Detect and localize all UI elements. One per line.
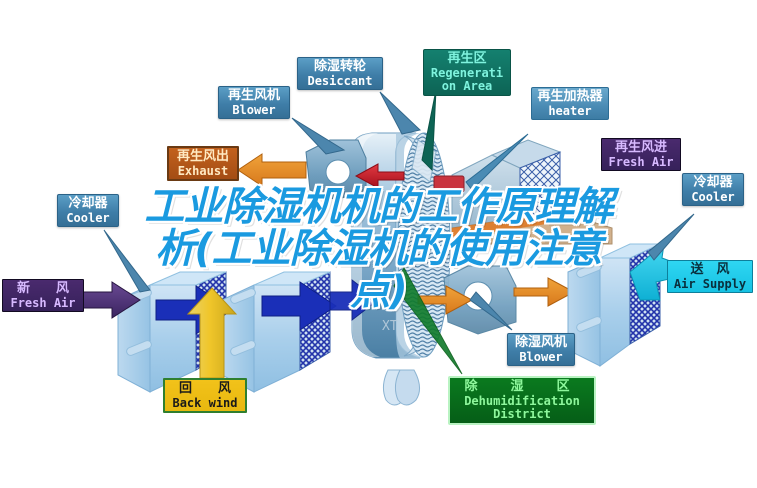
- label-regeneration-area[interactable]: 再生区 Regenerati on Area: [423, 49, 511, 96]
- label-air-supply-cn: 送 风: [672, 263, 748, 277]
- label-regeneration-air-in-cn: 再生风进: [606, 141, 676, 155]
- label-regeneration-area-cn: 再生区: [428, 52, 506, 66]
- label-regeneration-blower-cn: 再生风机: [223, 89, 285, 103]
- label-cooler-left-en: Cooler: [62, 212, 114, 225]
- label-regeneration-heater-en: heater: [536, 105, 604, 118]
- label-fresh-air-in-en: Fresh Air: [7, 297, 79, 310]
- label-dehumidification-blower-en: Blower: [512, 351, 570, 364]
- diagram-canvas: XT: [0, 0, 757, 488]
- label-cooler-left-cn: 冷却器: [62, 197, 114, 211]
- label-dehumidification-district-cn: 除 湿 区: [454, 380, 590, 394]
- label-regeneration-heater[interactable]: 再生加热器 heater: [531, 87, 609, 120]
- label-regeneration-area-en1: Regenerati: [428, 67, 506, 80]
- label-back-wind-cn: 回 风: [169, 382, 241, 396]
- label-fresh-air-in-cn: 新 风: [7, 282, 79, 296]
- label-fresh-air-in[interactable]: 新 风 Fresh Air: [2, 279, 84, 312]
- label-cooler-right[interactable]: 冷却器 Cooler: [682, 173, 744, 206]
- label-cooler-right-en: Cooler: [687, 191, 739, 204]
- label-cooler-right-cn: 冷却器: [687, 176, 739, 190]
- label-air-supply-en: Air Supply: [672, 278, 748, 291]
- label-exhaust-en: Exhaust: [173, 165, 233, 178]
- label-exhaust-cn: 再生风出: [173, 150, 233, 164]
- label-air-supply[interactable]: 送 风 Air Supply: [667, 260, 753, 293]
- exhaust-arrow: [238, 154, 306, 186]
- label-desiccant-rotor-en: Desiccant: [302, 75, 378, 88]
- label-regeneration-blower[interactable]: 再生风机 Blower: [218, 86, 290, 119]
- label-dehumidification-district[interactable]: 除 湿 区 Dehumidification District: [448, 376, 596, 425]
- label-dehumidification-blower[interactable]: 除湿风机 Blower: [507, 333, 575, 366]
- dehum-arrow-2: [514, 278, 574, 306]
- label-regeneration-blower-en: Blower: [223, 104, 285, 117]
- label-cooler-left[interactable]: 冷却器 Cooler: [57, 194, 119, 227]
- label-dehumidification-blower-cn: 除湿风机: [512, 336, 570, 350]
- label-dehumidification-district-en1: Dehumidification: [454, 395, 590, 408]
- label-regeneration-air-in-en: Fresh Air: [606, 156, 676, 169]
- label-desiccant-rotor[interactable]: 除湿转轮 Desiccant: [297, 57, 383, 90]
- svg-text:XT: XT: [382, 319, 398, 334]
- label-regeneration-air-in[interactable]: 再生风进 Fresh Air: [601, 138, 681, 171]
- label-dehumidification-district-en2: District: [454, 408, 590, 421]
- cooler-coil-2: [222, 272, 330, 392]
- label-desiccant-rotor-cn: 除湿转轮: [302, 60, 378, 74]
- label-back-wind-en: Back wind: [169, 397, 241, 410]
- label-regeneration-area-en2: on Area: [428, 80, 506, 93]
- label-back-wind[interactable]: 回 风 Back wind: [163, 378, 247, 413]
- label-regeneration-heater-cn: 再生加热器: [536, 90, 604, 104]
- label-exhaust[interactable]: 再生风出 Exhaust: [167, 146, 239, 181]
